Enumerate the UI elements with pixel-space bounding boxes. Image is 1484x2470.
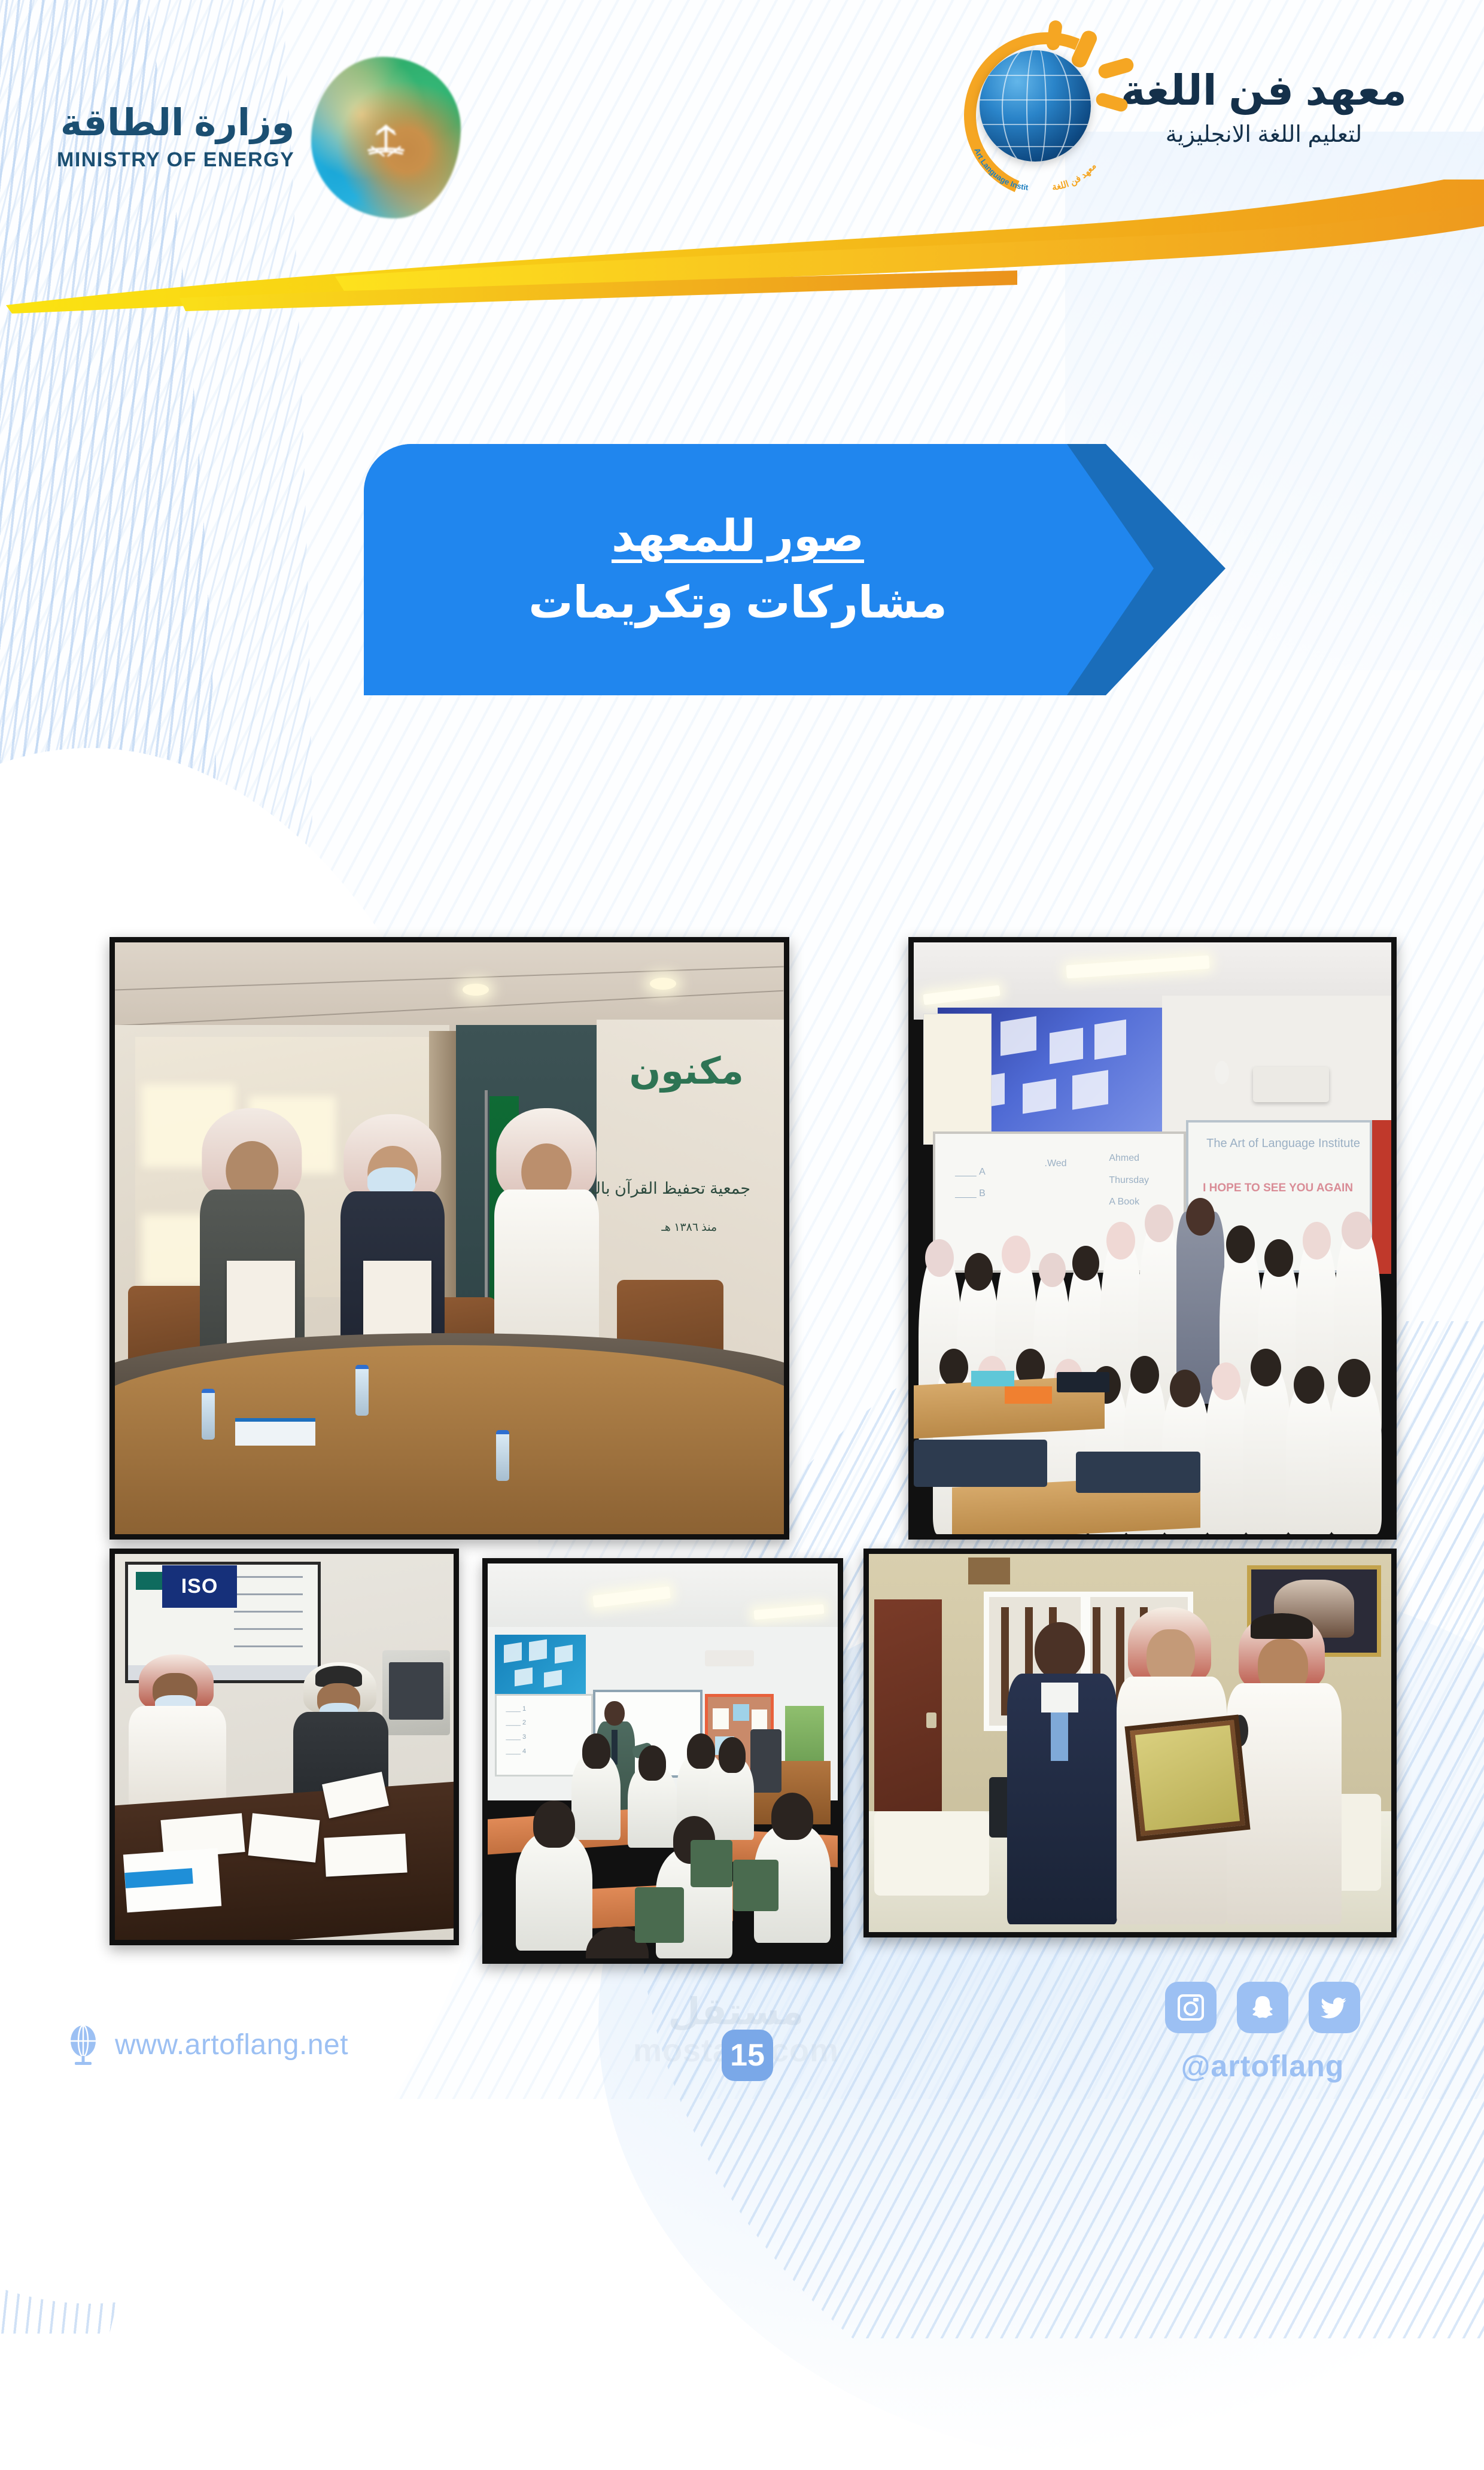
header-swoosh-decoration	[0, 180, 1484, 335]
watermark-badge: 15	[722, 2030, 773, 2081]
institute-subtitle-arabic: لتعليم اللغة الانجليزية	[1121, 121, 1407, 148]
head	[1035, 1622, 1085, 1680]
footer-social-block: @artoflang	[1107, 1982, 1418, 2083]
page-header: وزارة الطاقة MINISTRY OF ENERGY	[0, 0, 1484, 281]
photo-award-plaque[interactable]	[863, 1549, 1397, 1937]
award-plaque	[1124, 1715, 1250, 1842]
instagram-icon[interactable]	[1165, 1982, 1217, 2033]
blank-document	[248, 1813, 320, 1862]
monitor-screen	[389, 1662, 443, 1720]
person-guest-suit	[1005, 1622, 1120, 1925]
water-bottle	[202, 1389, 215, 1440]
photo-1-content: مكنون جمعية تحفيظ القرآن بالرياض منذ ١٣٨…	[115, 942, 784, 1534]
saudi-emblem-icon	[359, 114, 413, 168]
photo-3-content: ISO	[115, 1554, 454, 1940]
wall-calligraphy: مكنون	[629, 1049, 744, 1093]
institute-name-arabic: معهد فن اللغة	[1121, 68, 1407, 114]
snapchat-icon[interactable]	[1237, 1982, 1288, 2033]
classroom-chair	[691, 1840, 732, 1887]
bench-seat	[914, 1440, 1047, 1487]
wall-fixture	[968, 1558, 1010, 1584]
banner-title-line-1: صور للمعهد	[612, 510, 864, 563]
plaque-inscription	[1135, 1725, 1240, 1831]
classroom-chair	[733, 1860, 779, 1911]
photo-5-content	[869, 1554, 1391, 1932]
projector-unit	[1253, 1067, 1330, 1102]
globe-sun-logo-icon: Art Language Institute معهد فن اللغة	[959, 24, 1121, 191]
black-agal	[1251, 1613, 1313, 1638]
water-bottle	[355, 1365, 369, 1416]
stamped-document	[324, 1833, 407, 1876]
twitter-icon[interactable]	[1309, 1982, 1360, 2033]
photo-contract-signing-iso[interactable]: ISO	[110, 1549, 459, 1945]
bench-seat	[1076, 1452, 1200, 1493]
student-foreground	[516, 1832, 593, 1951]
photo-2-content: A ____ B ____ Wed. Ahmed Thursday A Book…	[914, 942, 1391, 1534]
classroom-chair	[635, 1887, 684, 1942]
board-heading-text: The Art of Language Institute	[1206, 1137, 1360, 1151]
photo-agreement-signing-ceremony[interactable]: مكنون جمعية تحفيظ القرآن بالرياض منذ ١٣٨…	[110, 937, 789, 1540]
teacher-head	[604, 1701, 624, 1726]
conference-table-base	[115, 1345, 784, 1534]
wall-poster	[923, 1014, 992, 1145]
tissue-box	[235, 1418, 315, 1446]
photo-classroom-group[interactable]: A ____ B ____ Wed. Ahmed Thursday A Book…	[908, 937, 1397, 1540]
social-handle-text: @artoflang	[1107, 2049, 1418, 2083]
footer-website-link[interactable]: www.artoflang.net	[66, 2024, 348, 2066]
globe-icon	[66, 2024, 101, 2066]
orange-folder	[1005, 1386, 1053, 1404]
teal-folder	[971, 1371, 1014, 1386]
ministry-name-english: MINISTRY OF ENERGY	[57, 148, 294, 172]
institute-logo: Art Language Institute معهد فن اللغة معه…	[959, 24, 1427, 191]
social-icon-row	[1107, 1982, 1418, 2033]
photo-4-content: 1 ____ 2 ____ 3 ____ 4 ____	[488, 1563, 838, 1958]
banner-text-block: صور للمعهد مشاركات وتكريمات	[364, 444, 1112, 695]
ministry-logo-text: وزارة الطاقة MINISTRY OF ENERGY	[57, 104, 294, 172]
university-logo-icon	[136, 1572, 162, 1590]
projector-unit	[705, 1650, 754, 1666]
door-handle	[926, 1712, 936, 1727]
desk-chair	[750, 1729, 782, 1793]
shirt-collar	[1041, 1683, 1078, 1713]
wall-sign-since-year: منذ ١٣٨٦ هـ	[661, 1221, 717, 1234]
banner-title-line-2: مشاركات وتكريمات	[528, 576, 947, 629]
wall-mural	[495, 1635, 586, 1698]
section-title-banner: صور للمعهد مشاركات وتكريمات	[364, 444, 1243, 695]
water-bottle	[496, 1430, 509, 1481]
iso-certificate-label: ISO	[162, 1565, 237, 1608]
speaker-dome	[1215, 1061, 1229, 1085]
laptop	[1057, 1372, 1109, 1392]
website-url-text: www.artoflang.net	[115, 2028, 348, 2061]
photo-teacher-lesson[interactable]: 1 ____ 2 ____ 3 ____ 4 ____	[482, 1558, 843, 1964]
ministry-name-arabic: وزارة الطاقة	[57, 104, 294, 142]
institute-logo-text: معهد فن اللغة لتعليم اللغة الانجليزية	[1121, 68, 1407, 148]
